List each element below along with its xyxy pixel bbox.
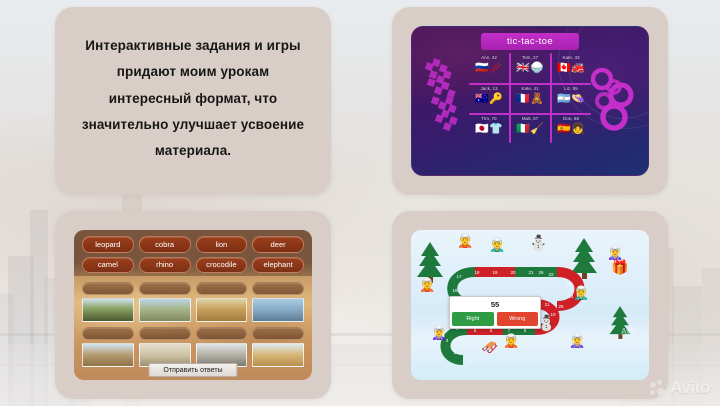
drop-slot[interactable] bbox=[252, 282, 304, 295]
elf-character-icon: 🧝 bbox=[419, 278, 435, 291]
animal-photo bbox=[196, 298, 248, 322]
elf-character-icon: 🧝‍♀️ bbox=[569, 334, 585, 347]
tic-tac-toe-cell[interactable]: Liz, 55 🇦🇷👒 bbox=[551, 84, 591, 114]
word-bank[interactable]: leopard cobra lion deer camel rhino croc… bbox=[82, 236, 304, 273]
cell-label: Jack, 13 bbox=[480, 87, 497, 92]
svg-text:17: 17 bbox=[456, 274, 462, 279]
x-mark-icon bbox=[424, 57, 470, 135]
tic-tac-toe-cell[interactable]: Ann, 42 🇷🇺🥢 bbox=[469, 53, 509, 83]
cell-emojis: 🇫🇷🧸 bbox=[516, 94, 543, 105]
avito-brand-text: Avito bbox=[670, 378, 710, 398]
quote-line: придают моим урокам bbox=[67, 59, 319, 85]
tic-tac-toe-cell[interactable]: Kate, 33 🇨🇦🚒 bbox=[551, 53, 591, 83]
word-tile[interactable]: elephant bbox=[252, 257, 304, 274]
svg-text:23: 23 bbox=[566, 282, 572, 287]
drop-slot[interactable] bbox=[252, 327, 304, 340]
quote-line: значительно улучшает усвоение bbox=[67, 112, 319, 138]
quote-line: интересный формат, что bbox=[67, 86, 319, 112]
cell-emojis: 🇮🇹🧹 bbox=[516, 124, 543, 135]
cell-label: Matt, 87 bbox=[522, 117, 539, 122]
slide-root: Интерактивные задания и игры придают мои… bbox=[0, 0, 720, 406]
elf-character-icon: 🧝‍♂️ bbox=[489, 238, 505, 251]
word-tile[interactable]: rhino bbox=[139, 257, 191, 274]
cell-emojis: 🇪🇸👧 bbox=[557, 124, 584, 135]
animal-photo bbox=[82, 298, 134, 322]
question-number: 55 bbox=[452, 299, 538, 312]
drop-slot[interactable] bbox=[139, 282, 191, 295]
avito-watermark: Avito bbox=[650, 378, 710, 398]
drop-slot-row bbox=[82, 327, 304, 340]
tic-tac-toe-grid[interactable]: Ann, 42 🇷🇺🥢 Tom, 27 🇬🇧🍚 Kate, 33 🇨🇦🚒 Jac… bbox=[469, 53, 591, 143]
elf-character-icon: 🧝‍♀️ bbox=[431, 326, 447, 339]
tic-tac-toe-cell[interactable]: Tom, 27 🇬🇧🍚 bbox=[510, 53, 550, 83]
quote-text: Интерактивные задания и игры придают мои… bbox=[67, 33, 319, 165]
cell-label: Kate, 33 bbox=[562, 56, 579, 61]
tic-tac-toe-cell[interactable]: Kate, 41 🇫🇷🧸 bbox=[510, 84, 550, 114]
quote-card: Интерактивные задания и игры придают мои… bbox=[55, 7, 331, 195]
wrong-button[interactable]: Wrong bbox=[497, 312, 539, 326]
cell-emojis: 🇨🇦🚒 bbox=[557, 63, 584, 74]
drop-slot[interactable] bbox=[82, 282, 134, 295]
answer-buttons: Right Wrong bbox=[452, 312, 538, 326]
svg-text:1: 1 bbox=[470, 358, 473, 363]
word-tile[interactable]: camel bbox=[82, 257, 134, 274]
svg-text:19: 19 bbox=[492, 270, 498, 275]
word-tile[interactable]: crocodile bbox=[196, 257, 248, 274]
cell-emojis: 🇷🇺🥢 bbox=[475, 63, 502, 74]
animal-photo bbox=[82, 343, 134, 367]
question-dialog[interactable]: 55 Right Wrong bbox=[449, 296, 541, 329]
elf-character-icon: 🧝‍♀️ bbox=[607, 246, 623, 259]
drop-slot[interactable] bbox=[196, 282, 248, 295]
word-tile[interactable]: deer bbox=[252, 236, 304, 253]
elf-character-icon: 🧝 bbox=[457, 234, 473, 247]
board-game-card: 123 456 789 101112 131415 161718 192021 … bbox=[392, 211, 668, 399]
svg-text:20: 20 bbox=[510, 270, 516, 275]
cell-label: Ann, 42 bbox=[481, 56, 497, 61]
cell-emojis: 🇬🇧🍚 bbox=[516, 63, 543, 74]
vocabulary-screen: leopard cobra lion deer camel rhino croc… bbox=[74, 230, 312, 380]
word-tile[interactable]: leopard bbox=[82, 236, 134, 253]
word-tile[interactable]: lion bbox=[196, 236, 248, 253]
tic-tac-toe-cell[interactable]: Matt, 87 🇮🇹🧹 bbox=[510, 114, 550, 144]
cell-label: Tom, 27 bbox=[522, 56, 538, 61]
quote-line: Интерактивные задания и игры bbox=[67, 33, 319, 59]
drop-slot[interactable] bbox=[82, 327, 134, 340]
inner-watermark: Avit bbox=[621, 327, 635, 336]
tic-tac-toe-cell[interactable]: Jack, 13 🇦🇺🔑 bbox=[469, 84, 509, 114]
svg-text:11: 11 bbox=[545, 302, 550, 307]
svg-text:25: 25 bbox=[558, 304, 564, 309]
animal-photo bbox=[139, 298, 191, 322]
svg-text:16: 16 bbox=[452, 288, 458, 293]
cell-emojis: 🇦🇷👒 bbox=[557, 94, 584, 105]
matching-row bbox=[82, 282, 304, 322]
right-button[interactable]: Right bbox=[452, 312, 494, 326]
svg-text:18: 18 bbox=[474, 270, 480, 275]
svg-text:22: 22 bbox=[548, 272, 554, 277]
tic-tac-toe-card: tic-tac-toe bbox=[392, 7, 668, 195]
o-mark-icon bbox=[588, 65, 640, 131]
word-tile[interactable]: cobra bbox=[139, 236, 191, 253]
board-game-screen: 123 456 789 101112 131415 161718 192021 … bbox=[411, 230, 649, 380]
cell-label: Kate, 41 bbox=[521, 87, 538, 92]
gift-sack-icon: 🎁 bbox=[611, 260, 628, 274]
drop-slot-row bbox=[82, 282, 304, 295]
cell-label: Liz, 55 bbox=[564, 87, 578, 92]
snowman-icon: ⛄ bbox=[529, 236, 548, 251]
drop-slot[interactable] bbox=[196, 327, 248, 340]
animal-photo bbox=[252, 298, 304, 322]
submit-answers-button[interactable]: Отправить ответы bbox=[148, 363, 237, 377]
picture-row bbox=[82, 298, 304, 322]
matching-row bbox=[82, 327, 304, 367]
drop-slot[interactable] bbox=[139, 327, 191, 340]
matching-area bbox=[82, 282, 304, 372]
tic-tac-toe-cell[interactable]: Don, 68 🇪🇸👧 bbox=[551, 114, 591, 144]
animal-photo bbox=[252, 343, 304, 367]
quote-line: материала. bbox=[67, 138, 319, 164]
vocabulary-card: leopard cobra lion deer camel rhino croc… bbox=[55, 211, 331, 399]
elf-character-icon: 🧝 bbox=[503, 334, 519, 347]
cell-emojis: 🇦🇺🔑 bbox=[475, 94, 502, 105]
cell-label: Don, 68 bbox=[563, 117, 579, 122]
tic-tac-toe-cell[interactable]: Tim, 70 🇯🇵👕 bbox=[469, 114, 509, 144]
elf-character-icon: 🧝‍♂️ bbox=[573, 286, 589, 299]
svg-text:21: 21 bbox=[528, 270, 534, 275]
cell-label: Tim, 70 bbox=[481, 117, 496, 122]
cell-emojis: 🇯🇵👕 bbox=[475, 124, 502, 135]
tic-tac-toe-title: tic-tac-toe bbox=[481, 33, 579, 50]
tic-tac-toe-screen: tic-tac-toe bbox=[411, 26, 649, 176]
svg-text:26: 26 bbox=[538, 270, 544, 275]
avito-logo-icon bbox=[650, 380, 666, 396]
sleigh-icon: 🛷 bbox=[481, 340, 498, 354]
